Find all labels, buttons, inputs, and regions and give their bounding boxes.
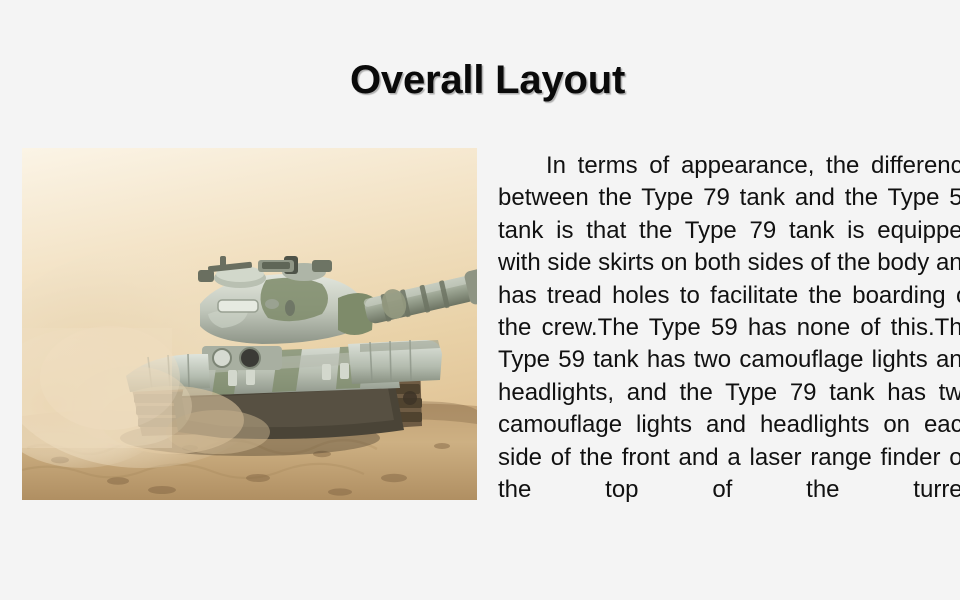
tank-photo [22,148,477,500]
page-title: Overall Layout [350,58,625,102]
body-text-block: In terms of appearance, the difference b… [498,150,960,539]
slide-canvas: Overall Layout [0,0,960,600]
tank-photo-illustration [22,148,477,500]
body-paragraph: In terms of appearance, the difference b… [498,150,960,539]
